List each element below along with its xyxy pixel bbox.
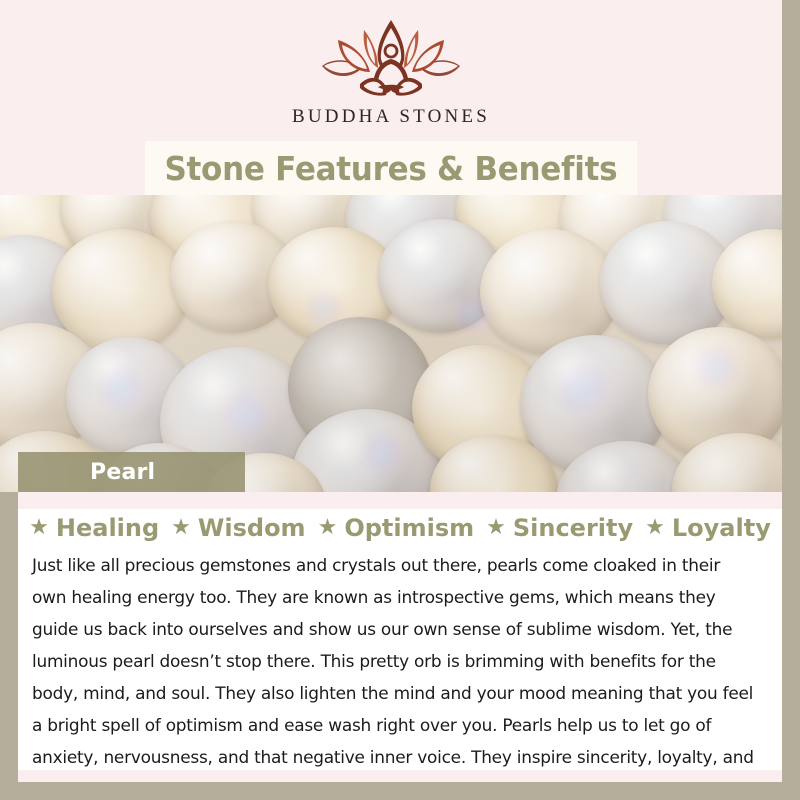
keyword-list: ★ Healing ★ Wisdom ★ Optimism ★ Sincerit… bbox=[18, 514, 782, 542]
keyword-item: ★ Sincerity bbox=[486, 514, 633, 542]
keyword-label: Wisdom bbox=[198, 514, 306, 542]
lotus-meditation-figure-icon bbox=[316, 18, 466, 100]
keyword-label: Optimism bbox=[344, 514, 474, 542]
mat-edge-right bbox=[782, 0, 800, 800]
keyword-label: Sincerity bbox=[513, 514, 633, 542]
keyword-item: ★ Healing bbox=[29, 514, 159, 542]
content-bottom-fade bbox=[18, 770, 782, 782]
pink-card: BUDDHA STONES Stone Features & Benefits bbox=[0, 0, 782, 782]
logo-lockup: BUDDHA STONES bbox=[0, 18, 782, 128]
infographic-page: BUDDHA STONES Stone Features & Benefits bbox=[0, 0, 800, 800]
star-icon: ★ bbox=[318, 517, 338, 539]
section-title-banner: Stone Features & Benefits bbox=[145, 141, 637, 195]
brand-header: BUDDHA STONES bbox=[0, 0, 782, 140]
star-icon: ★ bbox=[29, 517, 49, 539]
mat-edge-bottom bbox=[0, 782, 800, 800]
description-paragraph: Just like all precious gemstones and cry… bbox=[32, 550, 759, 782]
page-title: Stone Features & Benefits bbox=[165, 149, 618, 188]
star-icon: ★ bbox=[171, 517, 191, 539]
keyword-item: ★ Loyalty bbox=[645, 514, 771, 542]
content-top-fade bbox=[18, 492, 782, 509]
brand-name: BUDDHA STONES bbox=[0, 106, 782, 128]
mat-edge-left-lower bbox=[0, 492, 18, 800]
keyword-item: ★ Optimism bbox=[318, 514, 475, 542]
pearl-photo bbox=[0, 195, 782, 492]
keyword-label: Loyalty bbox=[672, 514, 771, 542]
content-panel: ★ Healing ★ Wisdom ★ Optimism ★ Sincerit… bbox=[18, 492, 782, 782]
stone-name: Pearl bbox=[18, 460, 155, 485]
stone-name-banner: Pearl bbox=[18, 452, 245, 492]
pearl-photo-canvas bbox=[0, 195, 782, 492]
star-icon: ★ bbox=[645, 517, 665, 539]
star-icon: ★ bbox=[486, 517, 506, 539]
keyword-label: Healing bbox=[56, 514, 159, 542]
keyword-item: ★ Wisdom bbox=[171, 514, 305, 542]
